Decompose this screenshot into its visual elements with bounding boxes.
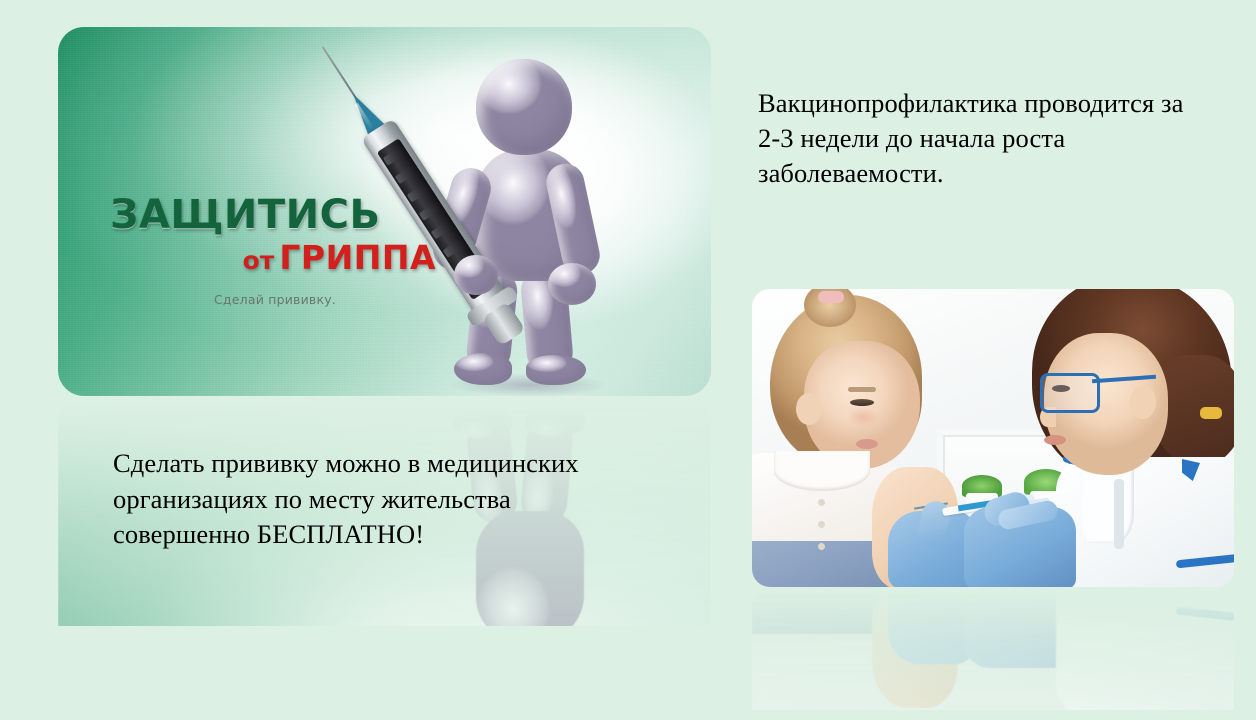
- photo-reflection: [752, 588, 1234, 710]
- mannequin-right-foot: [526, 355, 586, 385]
- free-vaccination-text: Сделать прививку можно в медицинских орг…: [113, 446, 653, 553]
- poster-tagline: Сделай прививку.: [110, 292, 440, 307]
- reflection-shape: [526, 407, 586, 437]
- poster-canvas: ЗАЩИТИСЬ от ГРИППА Сделай прививку.: [58, 27, 711, 396]
- poster-subheadline-preposition: от: [243, 246, 275, 275]
- reflection-shape: [752, 588, 912, 634]
- syringe-needle: [322, 46, 356, 97]
- poster-reflection-figure: [358, 396, 711, 720]
- reflection-shape: [872, 588, 958, 708]
- photo-reflection-surface: [752, 588, 1234, 720]
- poster-reflection-surface: [58, 396, 711, 720]
- girl-shirt-collar: [774, 451, 870, 491]
- reflection-shape: [476, 637, 572, 720]
- girl-eye: [850, 399, 874, 406]
- reflection-shape: [752, 588, 1234, 720]
- mannequin-left-foot: [454, 353, 512, 385]
- vaccination-photo[interactable]: [752, 289, 1234, 587]
- reflection-shape: [454, 407, 512, 439]
- girl-shirt-button: [818, 499, 825, 506]
- mannequin-head: [476, 59, 572, 155]
- mannequin-left-hand: [454, 255, 498, 295]
- girl-eyebrow: [848, 387, 876, 392]
- girl-lips: [856, 439, 878, 449]
- reflection-shape: [1176, 607, 1234, 622]
- flu-poster-picture[interactable]: ЗАЩИТИСЬ от ГРИППА Сделай прививку.: [58, 27, 711, 396]
- photo-frame: [752, 289, 1234, 587]
- poster-subheadline-word: ГРИППА: [279, 238, 436, 277]
- girl-cheek: [848, 407, 878, 427]
- reflection-shape: [888, 588, 974, 664]
- poster-headline-group: ЗАЩИТИСЬ от ГРИППА Сделай прививку.: [110, 195, 440, 307]
- girl-shirt-button: [818, 521, 825, 528]
- mannequin-right-hand: [548, 263, 596, 305]
- poster-headline: ЗАЩИТИСЬ: [110, 195, 440, 235]
- poster-subheadline: от ГРИППА: [110, 241, 440, 274]
- nurse-hair-band: [1200, 407, 1222, 419]
- nurse-coat-neckline: [1114, 479, 1124, 549]
- vaccination-timing-text: Вакцинопрофилактика проводится за 2-3 не…: [758, 86, 1198, 192]
- girl-ear: [796, 393, 822, 425]
- nurse-lips: [1044, 435, 1066, 445]
- slide-canvas: ЗАЩИТИСЬ от ГРИППА Сделай прививку.: [0, 0, 1256, 720]
- reflection-shape: [1056, 588, 1234, 718]
- reflection-shape: [964, 588, 1076, 668]
- nurse-ear: [1130, 385, 1156, 419]
- girl-shirt-button: [818, 543, 825, 550]
- girl-hair-tie: [818, 291, 844, 303]
